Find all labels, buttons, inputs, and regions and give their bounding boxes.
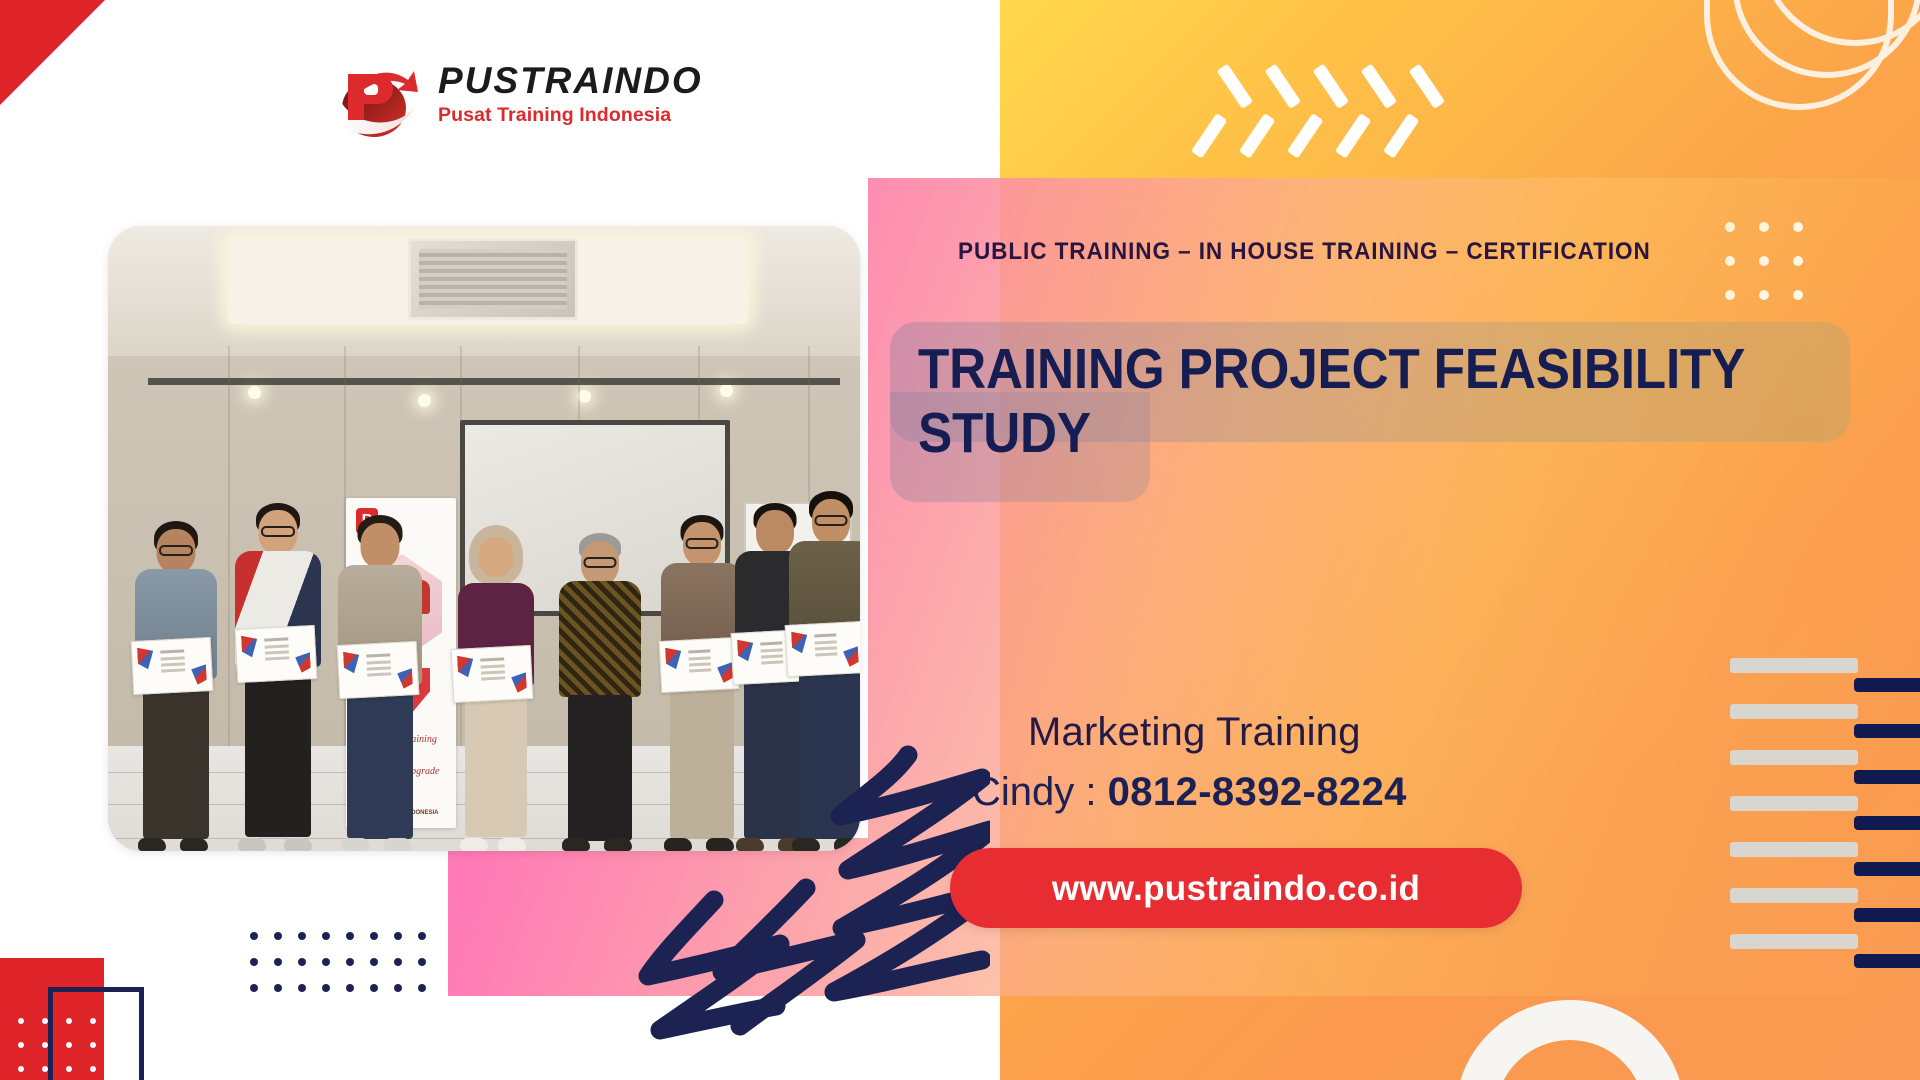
stripe-bar-gray bbox=[1730, 658, 1858, 673]
logo-name: PUSTRAINDO bbox=[438, 62, 703, 99]
certificate bbox=[131, 637, 214, 695]
page-title: TRAINING PROJECT FEASIBILITY STUDY bbox=[918, 338, 1755, 466]
room-ceiling bbox=[108, 226, 860, 356]
poster-canvas: The Best Training for Your Skill Upgrade… bbox=[0, 0, 1920, 1080]
stripe-bar-navy bbox=[1854, 908, 1920, 922]
decor-dot bbox=[250, 958, 258, 966]
downlight bbox=[248, 386, 261, 399]
chevron-right-icon bbox=[1215, 72, 1249, 152]
stripe-bar-gray bbox=[1730, 796, 1858, 811]
stripe-bar-row bbox=[1730, 934, 1920, 950]
decor-dot bbox=[370, 984, 378, 992]
dot-grid-bottom-left bbox=[250, 932, 442, 1010]
pustraindo-logo-icon bbox=[330, 56, 422, 140]
navy-outline-frame-decor bbox=[48, 987, 144, 1080]
decor-dot bbox=[250, 984, 258, 992]
stripe-bar-row bbox=[1730, 796, 1920, 812]
stripe-bar-row bbox=[1730, 658, 1920, 674]
participant bbox=[230, 503, 326, 851]
stripe-bar-gray bbox=[1730, 934, 1858, 949]
chevron-right-icon bbox=[1407, 72, 1441, 152]
kicker-text: PUBLIC TRAINING – IN HOUSE TRAINING – CE… bbox=[958, 240, 1651, 265]
decor-dot bbox=[394, 932, 402, 940]
decor-dot bbox=[274, 958, 282, 966]
certificate bbox=[451, 645, 534, 703]
decor-dot bbox=[370, 932, 378, 940]
decor-dot bbox=[346, 958, 354, 966]
decor-dot bbox=[346, 984, 354, 992]
decor-dot bbox=[370, 958, 378, 966]
decor-dot bbox=[394, 984, 402, 992]
decor-dot bbox=[298, 984, 306, 992]
participant bbox=[784, 491, 860, 851]
decor-dot bbox=[18, 1018, 24, 1024]
photo-content: The Best Training for Your Skill Upgrade… bbox=[108, 226, 860, 851]
contact-phone: 0812-8392-8224 bbox=[1108, 770, 1407, 814]
stripe-bar-navy bbox=[1854, 770, 1920, 784]
decor-dot bbox=[346, 932, 354, 940]
contact-line: Cindy : 0812-8392-8224 bbox=[972, 772, 1407, 812]
stripe-bar-navy bbox=[1854, 678, 1920, 692]
stripe-bar-navy bbox=[1854, 724, 1920, 738]
decor-dot bbox=[418, 984, 426, 992]
website-cta-button[interactable]: www.pustraindo.co.id bbox=[950, 848, 1522, 928]
participant bbox=[128, 521, 224, 851]
stripe-bar-navy bbox=[1854, 954, 1920, 968]
decor-dot bbox=[18, 1066, 24, 1072]
stripe-bar-row bbox=[1730, 750, 1920, 766]
brand-logo[interactable]: PUSTRAINDO Pusat Training Indonesia bbox=[330, 52, 750, 142]
stripe-bar-gray bbox=[1730, 704, 1858, 719]
downlight bbox=[720, 384, 733, 397]
contact-name-label: Cindy : bbox=[972, 770, 1108, 814]
participant bbox=[552, 533, 648, 851]
decor-dot bbox=[298, 958, 306, 966]
decor-dot bbox=[394, 958, 402, 966]
decor-dot bbox=[274, 984, 282, 992]
decor-dot bbox=[18, 1042, 24, 1048]
participant bbox=[448, 525, 544, 851]
decor-dot bbox=[322, 932, 330, 940]
website-url: www.pustraindo.co.id bbox=[1052, 871, 1420, 906]
stripe-bar-row bbox=[1730, 842, 1920, 858]
stripe-bar-row bbox=[1730, 888, 1920, 904]
decor-dot bbox=[298, 932, 306, 940]
certificate bbox=[785, 621, 860, 677]
participant bbox=[332, 515, 428, 851]
downlight bbox=[418, 394, 431, 407]
wall-rail bbox=[148, 378, 840, 385]
decor-dot bbox=[322, 984, 330, 992]
certificate bbox=[337, 641, 420, 699]
stripe-bar-row bbox=[1730, 704, 1920, 720]
chevron-right-icon bbox=[1311, 72, 1345, 152]
contact-role: Marketing Training bbox=[1028, 712, 1361, 752]
logo-tagline: Pusat Training Indonesia bbox=[438, 106, 703, 126]
certificate bbox=[235, 625, 318, 683]
ceiling-ac-vent bbox=[408, 238, 578, 320]
stripe-bar-gray bbox=[1730, 842, 1858, 857]
decor-dot bbox=[322, 958, 330, 966]
decor-dot bbox=[274, 932, 282, 940]
stripe-bar-navy bbox=[1854, 816, 1920, 830]
u-rings-decor bbox=[1660, 0, 1920, 200]
stripe-bar-gray bbox=[1730, 750, 1858, 765]
chevron-right-icon bbox=[1263, 72, 1297, 152]
chevron-arrows-decor bbox=[1215, 72, 1441, 152]
decor-dot bbox=[418, 932, 426, 940]
decor-dot bbox=[418, 958, 426, 966]
stripe-bar-gray bbox=[1730, 888, 1858, 903]
stripe-bars-decor bbox=[1730, 658, 1920, 988]
decor-dot bbox=[250, 932, 258, 940]
chevron-right-icon bbox=[1359, 72, 1393, 152]
training-photo: The Best Training for Your Skill Upgrade… bbox=[108, 226, 860, 851]
logo-text-block: PUSTRAINDO Pusat Training Indonesia bbox=[438, 62, 703, 126]
stripe-bar-navy bbox=[1854, 862, 1920, 876]
